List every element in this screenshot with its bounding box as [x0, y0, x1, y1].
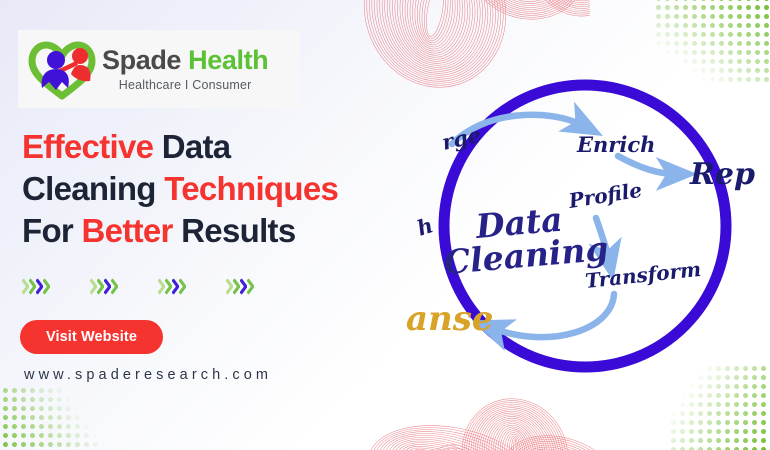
heart-people-logo-icon: [26, 38, 98, 100]
brand-name-part2: Health: [188, 45, 268, 75]
chevron-group: [90, 278, 118, 295]
chevron-right-icon: [29, 278, 36, 295]
promo-banner: Spade Health Healthcare I Consumer Effec…: [0, 0, 770, 450]
headline-word-cleaning: Cleaning: [22, 170, 164, 207]
headline-word-data: Data: [153, 128, 230, 165]
chevron-group: [22, 278, 50, 295]
chevron-group: [226, 278, 254, 295]
chevron-right-icon: [104, 278, 111, 295]
diagram-label-profile: Profile: [566, 178, 644, 213]
headline-word-for: For: [22, 212, 82, 249]
chevron-group: [158, 278, 186, 295]
headline-word-effective: Effective: [22, 128, 153, 165]
chevron-right-icon: [247, 278, 254, 295]
chevron-right-icon: [90, 278, 97, 295]
headline-word-results: Results: [173, 212, 296, 249]
brand-tagline: Healthcare I Consumer: [102, 78, 268, 92]
halftone-dots-top-right: [654, 0, 770, 86]
halftone-dots-bottom-right: [669, 364, 770, 450]
brand-name-part1: Spade: [102, 45, 188, 75]
arrow-enrich-to-report: [618, 156, 676, 174]
headline: Effective Data Cleaning Techniques For B…: [22, 126, 422, 253]
diagram-label-cleanse: anse: [406, 299, 494, 339]
site-url-text: www.spaderesearch.com: [24, 367, 272, 383]
chevron-decoration-row: [22, 278, 254, 295]
diagram-label-enrich: Enrich: [576, 132, 655, 157]
chevron-right-icon: [36, 278, 43, 295]
chevron-right-icon: [240, 278, 247, 295]
visit-website-button[interactable]: Visit Website: [20, 320, 163, 354]
chevron-right-icon: [226, 278, 233, 295]
headline-line-2: Cleaning Techniques: [22, 168, 422, 210]
chevron-right-icon: [179, 278, 186, 295]
chevron-right-icon: [158, 278, 165, 295]
data-cleaning-cycle-diagram: rge Enrich Rep Profile Transform anse h …: [400, 78, 770, 374]
brand-logo-text: Spade Health Healthcare I Consumer: [102, 46, 268, 92]
diagram-label-report: Rep: [689, 157, 755, 192]
diagram-label-match: h: [414, 212, 436, 240]
brand-logo-card[interactable]: Spade Health Healthcare I Consumer: [18, 30, 300, 108]
headline-word-techniques: Techniques: [164, 170, 338, 207]
chevron-right-icon: [22, 278, 29, 295]
halftone-dots-bottom-left: [0, 386, 112, 450]
diagram-label-merge: rge: [440, 122, 484, 155]
headline-line-3: For Better Results: [22, 210, 422, 252]
headline-word-better: Better: [82, 212, 173, 249]
brand-name: Spade Health: [102, 46, 268, 74]
chevron-right-icon: [233, 278, 240, 295]
arrow-transform-to-cleanse: [492, 294, 614, 337]
chevron-right-icon: [165, 278, 172, 295]
headline-line-1: Effective Data: [22, 126, 422, 168]
chevron-right-icon: [43, 278, 50, 295]
chevron-right-icon: [172, 278, 179, 295]
chevron-right-icon: [97, 278, 104, 295]
chevron-right-icon: [111, 278, 118, 295]
